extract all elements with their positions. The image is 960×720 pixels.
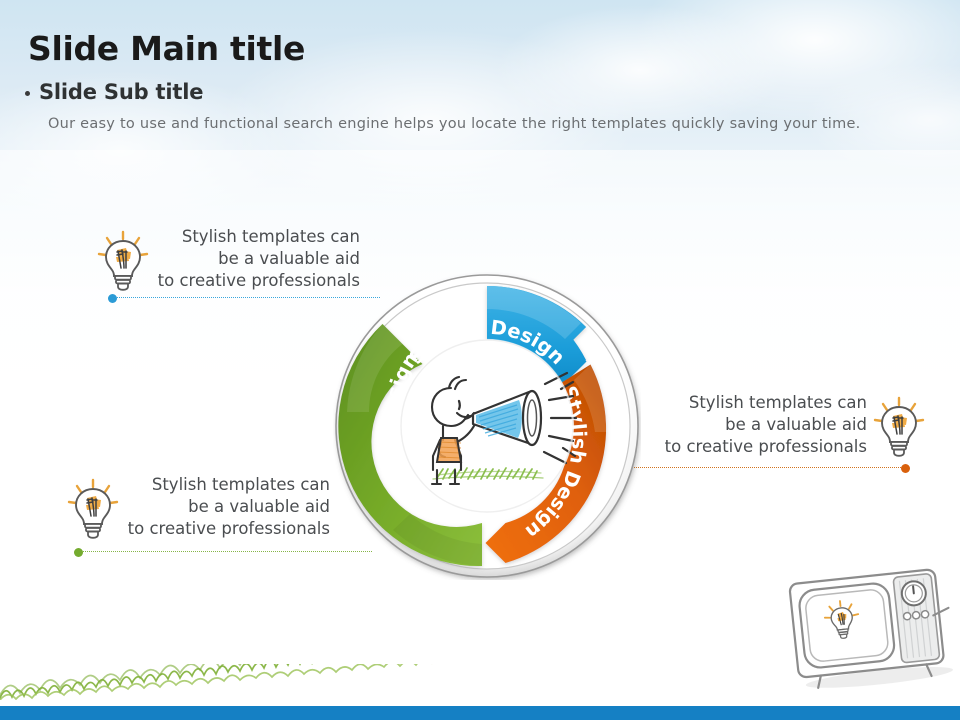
lightbulb-icon xyxy=(96,230,150,296)
connector-dotted-line xyxy=(81,551,372,552)
connector-endpoint-dot xyxy=(74,548,83,557)
callout-line: be a valuable aid xyxy=(126,496,330,518)
callout-line: Stylish templates can xyxy=(126,474,330,496)
slide-subtitle-row: Slide Sub title xyxy=(25,80,203,104)
footer-bar xyxy=(0,706,960,720)
slide-subtitle: Slide Sub title xyxy=(39,80,203,104)
callout-line: to creative professionals xyxy=(655,436,867,458)
bullet-icon xyxy=(25,91,30,96)
callout-line: Stylish templates can xyxy=(655,392,867,414)
slide-header: Slide Main title Slide Sub title Our eas… xyxy=(0,0,960,160)
callout-line: to creative professionals xyxy=(156,270,360,292)
cycle-diagram[interactable]: Stylish Design Stylish Design Stylish De… xyxy=(333,272,641,580)
callout-line: be a valuable aid xyxy=(655,414,867,436)
slide-description: Our easy to use and functional search en… xyxy=(48,116,860,132)
connector-dotted-line xyxy=(604,467,903,468)
callout-line: to creative professionals xyxy=(126,518,330,540)
callout-top-left[interactable]: Stylish templates can be a valuable aid … xyxy=(96,226,366,292)
callout-line: Stylish templates can xyxy=(156,226,360,248)
callout-line: be a valuable aid xyxy=(156,248,360,270)
callout-text: Stylish templates can be a valuable aid … xyxy=(126,474,336,540)
lightbulb-icon xyxy=(66,478,120,544)
lightbulb-icon xyxy=(872,396,926,462)
grass-strip xyxy=(0,664,960,704)
callout-right[interactable]: Stylish templates can be a valuable aid … xyxy=(655,392,925,458)
callout-text: Stylish templates can be a valuable aid … xyxy=(655,392,867,458)
callout-bottom-left[interactable]: Stylish templates can be a valuable aid … xyxy=(66,474,336,540)
connector-endpoint-dot xyxy=(901,464,910,473)
page-title: Slide Main title xyxy=(28,29,305,68)
connector-line-right xyxy=(604,467,910,469)
connector-line-bottom-left xyxy=(74,551,372,553)
